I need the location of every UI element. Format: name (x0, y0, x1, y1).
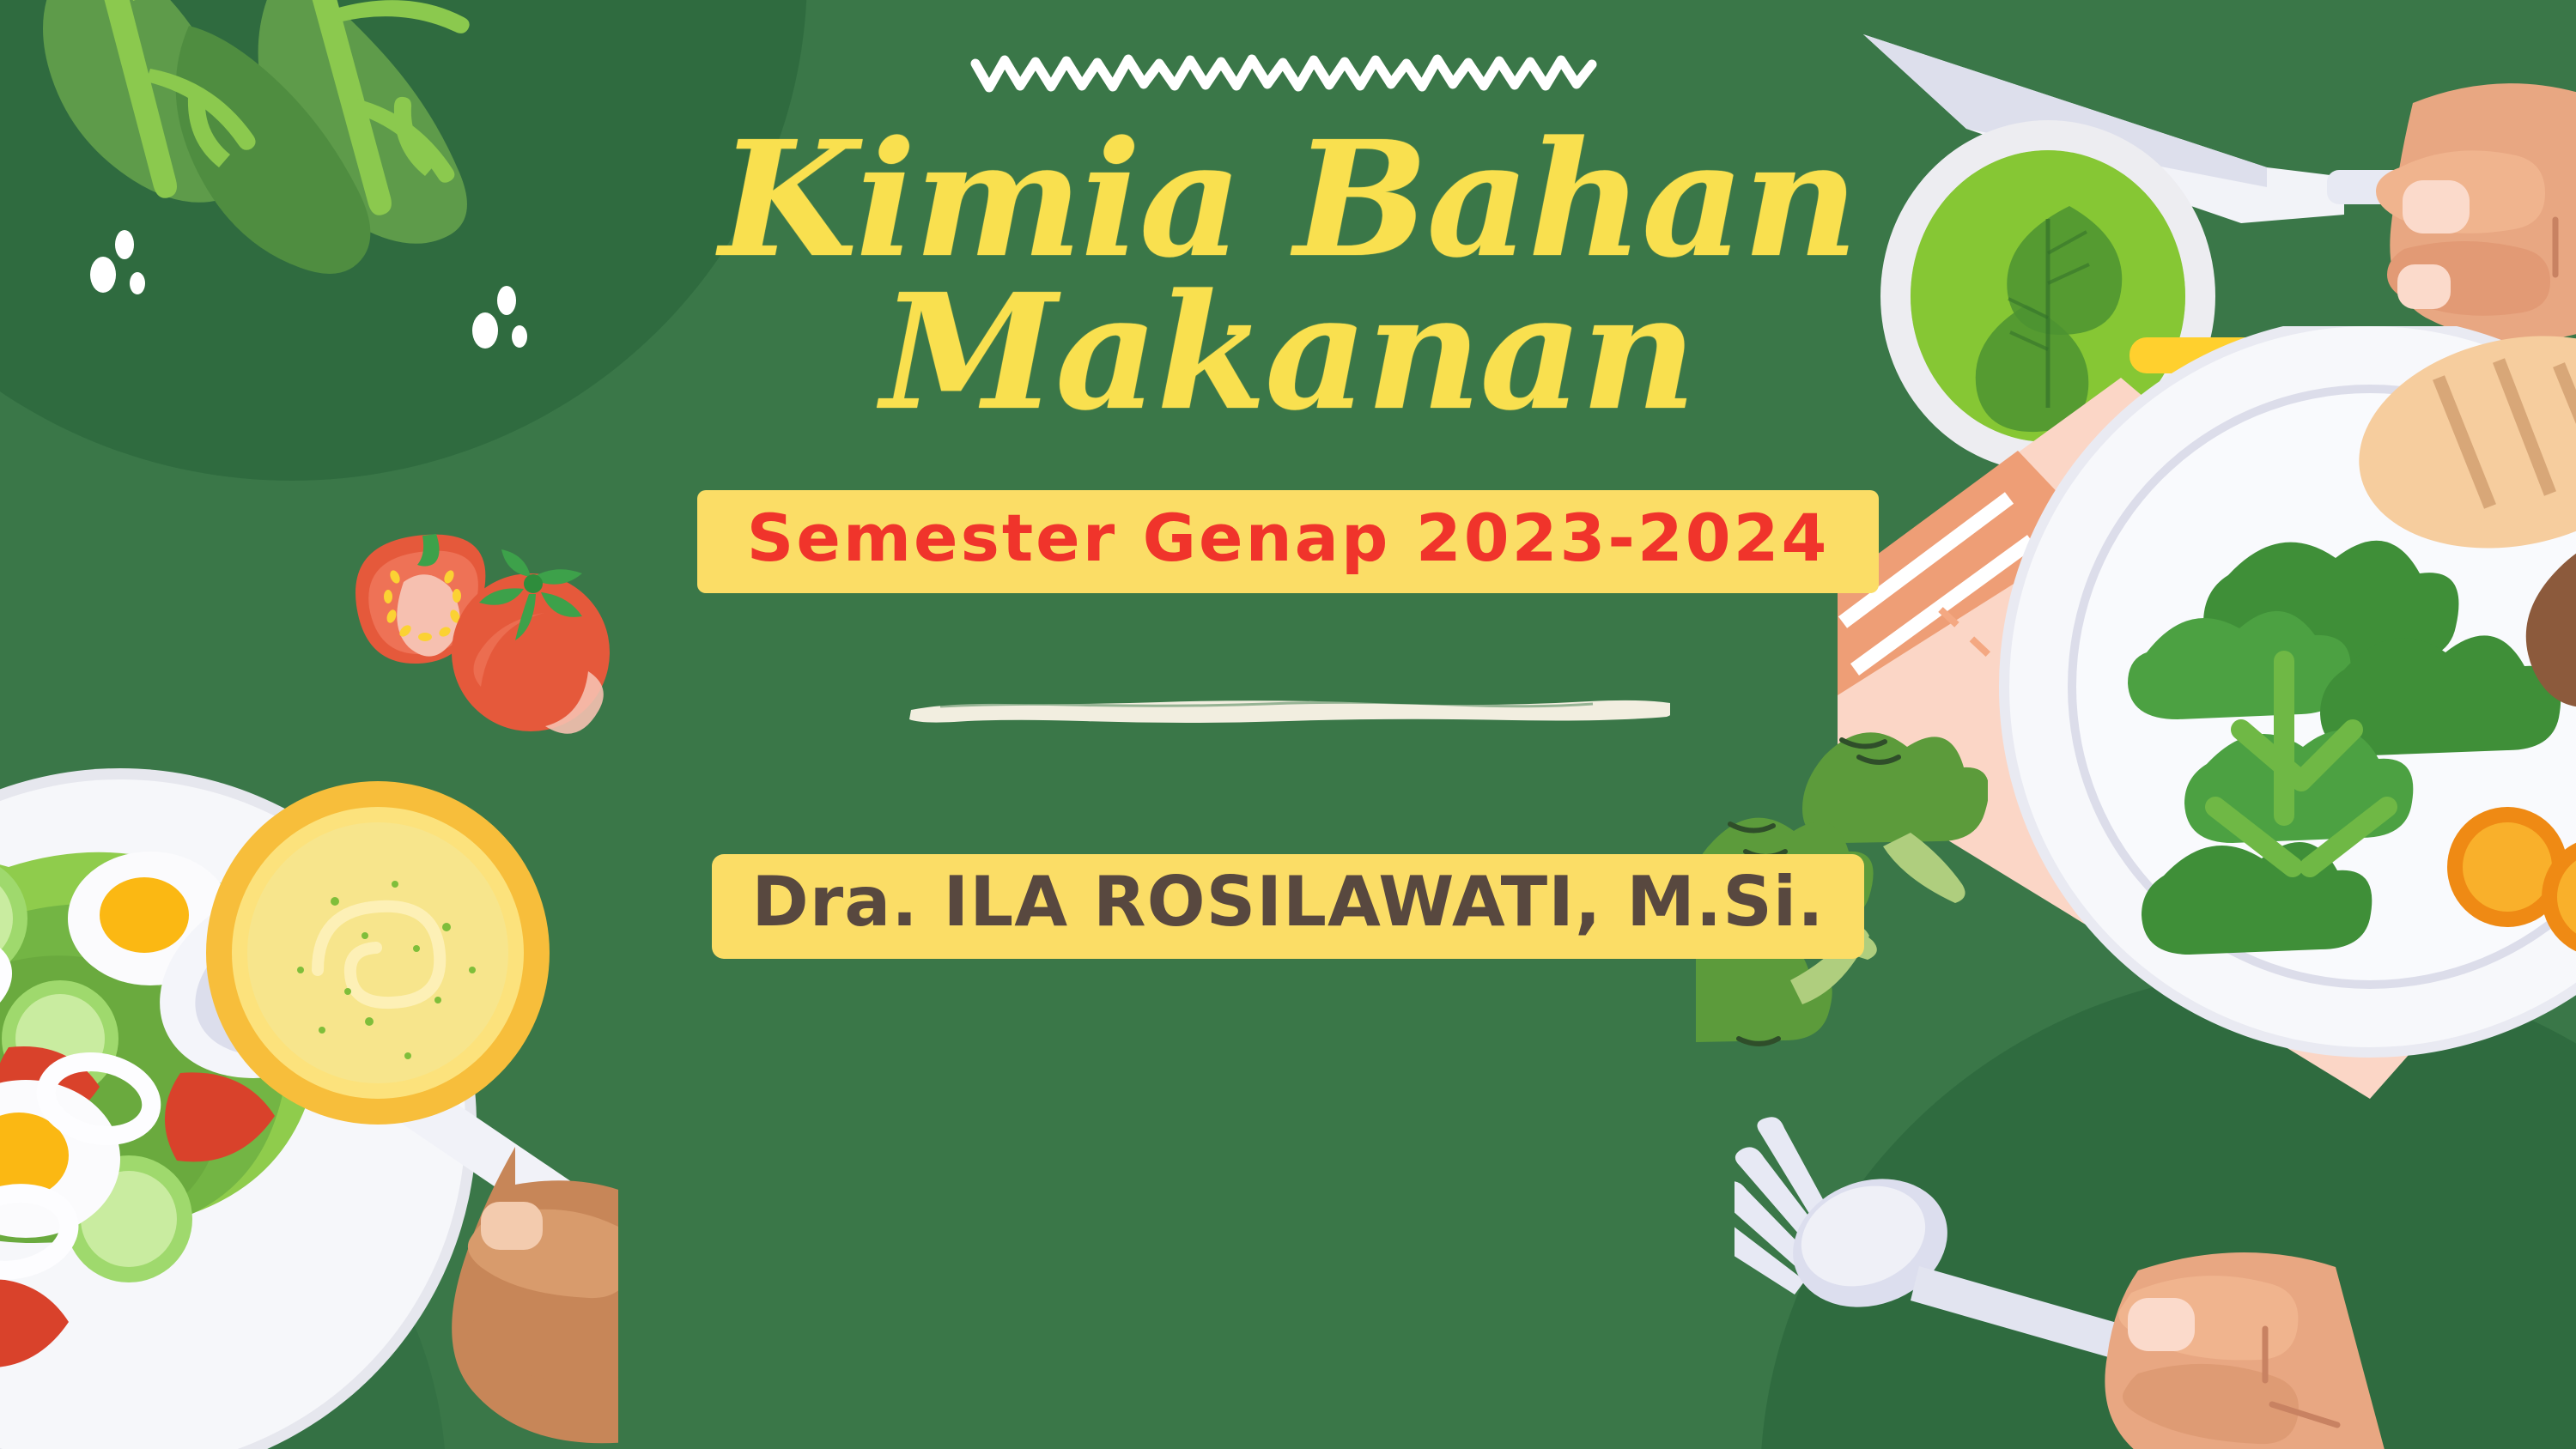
hand-holding-spoon-illustration (452, 1147, 618, 1443)
hand-icon (2105, 1252, 2387, 1449)
title-line-1: Kimia Bahan (720, 106, 1857, 293)
broccoli-floret-icon (1696, 927, 1869, 1044)
hand-icon (2376, 83, 2576, 342)
hand-holding-fork-illustration (1735, 1099, 2387, 1449)
semester-badge: Semester Genap 2023-2024 (697, 490, 1880, 593)
brush-stroke-divider-icon (906, 694, 1670, 724)
zigzag-squiggle-icon (970, 52, 1606, 94)
page-title: Kimia Bahan Makanan (720, 124, 1857, 428)
tomatoes-illustration (326, 515, 670, 773)
author-badge: Dra. ILA ROSILAWATI, M.Si. (712, 854, 1863, 959)
fork-icon (1735, 1117, 2138, 1363)
semester-label: Semester Genap 2023-2024 (747, 506, 1830, 571)
author-label: Dra. ILA ROSILAWATI, M.Si. (751, 868, 1824, 937)
broccoli-florets-illustration (1696, 704, 1988, 1082)
spinach-leaves-illustration (0, 0, 584, 464)
title-slide: Kimia Bahan Makanan Semester Genap 2023-… (0, 0, 2576, 1449)
title-line-2: Makanan (720, 276, 1857, 429)
dressing-bowl-illustration (197, 773, 558, 1133)
